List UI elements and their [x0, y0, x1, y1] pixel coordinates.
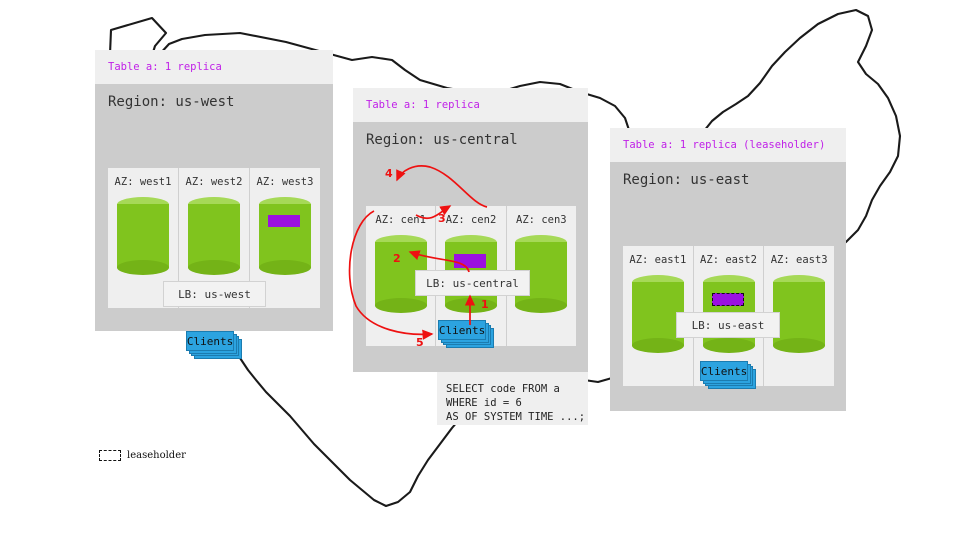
az-label: AZ: cen1 [375, 214, 426, 226]
load-balancer-us-west[interactable]: LB: us-west [163, 281, 266, 307]
az-label: AZ: east3 [771, 254, 828, 266]
az-label: AZ: east2 [700, 254, 757, 266]
diagram-canvas: Table a: 1 replica Region: us-west AZ: w… [0, 0, 960, 540]
replica-cylinder-west1[interactable] [117, 197, 169, 275]
az-label: AZ: west1 [115, 176, 172, 188]
clients-stack-us-west[interactable]: Clients [186, 331, 244, 361]
region-header-label: Table a: 1 replica (leaseholder) [623, 139, 825, 151]
flow-step-1-label: 1 [481, 298, 489, 311]
cylinder-body [117, 204, 169, 268]
clients-stack-us-east[interactable]: Clients [700, 361, 758, 391]
region-title-us-east: Region: us-east [610, 162, 749, 188]
clients-label-us-central[interactable]: Clients [438, 320, 486, 340]
az-label: AZ: east1 [629, 254, 686, 266]
region-header-label: Table a: 1 replica [366, 99, 480, 111]
region-header-us-west: Table a: 1 replica [95, 50, 333, 84]
region-panel-us-west: Table a: 1 replica Region: us-west AZ: w… [95, 50, 333, 331]
cylinder-bottom [117, 260, 169, 275]
region-title-us-central: Region: us-central [353, 122, 518, 148]
region-header-us-east: Table a: 1 replica (leaseholder) [610, 128, 846, 162]
cylinder-bottom [773, 338, 825, 353]
cylinder-body [259, 204, 311, 268]
replica-cylinder-east3[interactable] [773, 275, 825, 353]
sql-query-box: SELECT code FROM a WHERE id = 6 AS OF SY… [437, 372, 588, 425]
legend-label: leaseholder [127, 450, 186, 461]
cylinder-bottom [375, 298, 427, 313]
az-label: AZ: cen3 [516, 214, 567, 226]
az-label: AZ: cen2 [446, 214, 497, 226]
replica-cylinder-west3[interactable] [259, 197, 311, 275]
cylinder-bottom [445, 298, 497, 313]
cylinder-body [188, 204, 240, 268]
region-title-us-west: Region: us-west [95, 84, 234, 110]
legend-leaseholder: leaseholder [99, 450, 186, 461]
leaseholder-replica-marker-east2[interactable] [712, 293, 744, 306]
cylinder-body [773, 282, 825, 346]
clients-label-us-east[interactable]: Clients [700, 361, 748, 381]
dashed-rect-icon [99, 450, 121, 461]
cylinder-bottom [703, 338, 755, 353]
load-balancer-us-central[interactable]: LB: us-central [415, 270, 530, 296]
az-label: AZ: west2 [186, 176, 243, 188]
flow-step-2-label: 2 [393, 252, 401, 265]
replica-cylinder-west2[interactable] [188, 197, 240, 275]
clients-stack-us-central[interactable]: Clients [438, 320, 496, 350]
flow-step-3-label: 3 [438, 212, 446, 225]
table-replica-marker-west3[interactable] [268, 215, 300, 227]
flow-step-5-label: 5 [416, 336, 424, 349]
clients-label-us-west[interactable]: Clients [186, 331, 234, 351]
az-label: AZ: west3 [257, 176, 314, 188]
cylinder-bottom [188, 260, 240, 275]
region-panel-us-east: Table a: 1 replica (leaseholder) Region:… [610, 128, 846, 411]
region-panel-us-central: Table a: 1 replica Region: us-central AZ… [353, 88, 588, 372]
region-header-label: Table a: 1 replica [108, 61, 222, 73]
cylinder-bottom [259, 260, 311, 275]
cylinder-bottom [515, 298, 567, 313]
region-header-us-central: Table a: 1 replica [353, 88, 588, 122]
table-replica-marker-cen2[interactable] [454, 254, 486, 268]
flow-step-4-label: 4 [385, 167, 393, 180]
cylinder-bottom [632, 338, 684, 353]
load-balancer-us-east[interactable]: LB: us-east [676, 312, 780, 338]
